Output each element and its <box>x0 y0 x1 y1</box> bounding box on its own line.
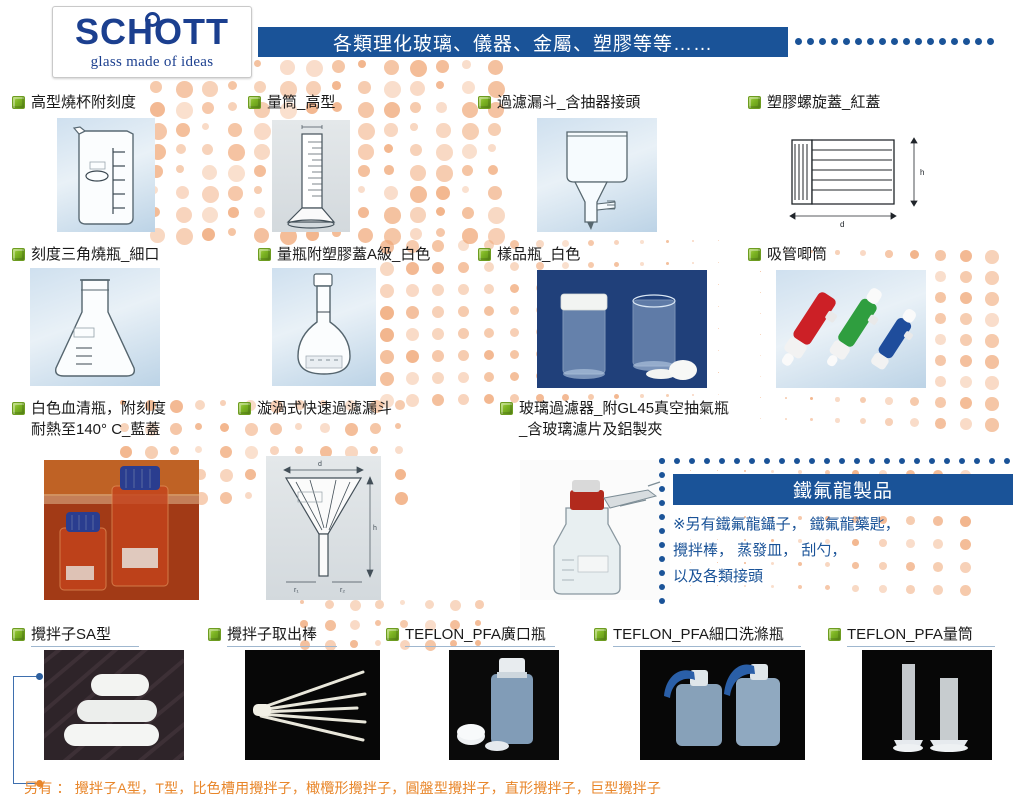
product-label-stir-bar-sa: 攪拌子SA型 <box>12 624 111 645</box>
product-image-graduated-cylinder <box>272 120 350 232</box>
footer-note: 另有 ： 攪拌子A型，T型，比色槽用攪拌子，橄欖形攪拌子，圓盤型攪拌子，直形攪拌… <box>24 778 661 798</box>
pfa-cylinders-art <box>862 650 992 760</box>
green-cube-bullet-icon <box>12 96 25 109</box>
schott-logo: SCHOTT glass made of ideas <box>52 6 252 78</box>
product-label-vortex-funnel: 漩渦式快速過濾漏斗 <box>238 398 392 419</box>
teflon-products-panel: 鐵氟龍製品 ※另有鐵氟龍鑷子， 鐵氟龍藥匙， 攪拌棒， 蒸發皿， 刮勺， 以及各… <box>659 458 1015 610</box>
green-cube-bullet-icon <box>258 248 271 261</box>
logo-ring-icon <box>145 12 160 27</box>
label-underline-pfa-wash-bottle <box>613 646 801 647</box>
product-image-stir-bar-retriever <box>245 650 380 760</box>
green-cube-bullet-icon <box>748 96 761 109</box>
product-image-pfa-wash-bottle <box>640 650 805 760</box>
pfa-wash-bottles-art <box>640 650 805 760</box>
volumetric-flask-art <box>272 268 376 386</box>
product-label-tall-beaker: 高型燒杯附刻度 <box>12 92 136 113</box>
svg-text:d: d <box>318 461 322 468</box>
product-image-filter-funnel <box>537 118 657 232</box>
product-label-glass-filter-gl45: 玻璃過濾器_附GL45真空抽氣瓶 _含玻璃濾片及鋁製夾 <box>500 398 729 440</box>
sample-bottles-art <box>537 270 707 388</box>
pipette-pumps-art <box>776 270 926 388</box>
product-image-serum-bottle <box>44 460 199 600</box>
label-underline-pfa-graduated-cylinder <box>847 646 995 647</box>
product-label-filter-funnel: 過濾漏斗_含抽器接頭 <box>478 92 640 113</box>
teflon-panel-dot-border-left <box>659 458 667 610</box>
product-label-graduated-cylinder: 量筒_高型 <box>248 92 335 113</box>
header-banner: 各類理化玻璃、儀器、金屬、塑膠等等…… <box>258 27 788 57</box>
product-label-stir-bar-retriever: 攪拌子取出棒 <box>208 624 317 645</box>
green-cube-bullet-icon <box>12 628 25 641</box>
vortex-funnel-art: d h r₁ r₂ <box>266 456 381 600</box>
product-image-volumetric-flask <box>272 268 376 386</box>
green-cube-bullet-icon <box>828 628 841 641</box>
product-image-stir-bar-sa <box>44 650 184 760</box>
slide-canvas: SCHOTT glass made of ideas 各類理化玻璃、儀器、金屬、… <box>0 0 1024 802</box>
svg-text:r₁: r₁ <box>294 587 299 594</box>
product-image-glass-filter-gl45 <box>520 460 670 600</box>
product-label-sample-bottle: 樣品瓶_白色 <box>478 244 580 265</box>
product-label-pfa-wash-bottle: TEFLON_PFA細口洗滌瓶 <box>594 624 784 645</box>
product-image-vortex-funnel: d h r₁ r₂ <box>266 456 381 600</box>
retriever-rods-art <box>245 650 380 760</box>
product-image-pfa-graduated-cylinder <box>862 650 992 760</box>
green-cube-bullet-icon <box>478 96 491 109</box>
teflon-panel-body: ※另有鐵氟龍鑷子， 鐵氟龍藥匙， 攪拌棒， 蒸發皿， 刮勺， 以及各類接頭 <box>673 512 1015 590</box>
green-cube-bullet-icon <box>12 248 25 261</box>
label-underline-pfa-wide-mouth-bottle <box>405 646 555 647</box>
product-label-pfa-wide-mouth-bottle: TEFLON_PFA廣口瓶 <box>386 624 546 645</box>
stir-bars-art <box>44 650 184 760</box>
cylinder-drawing-art <box>272 120 350 232</box>
beaker-art <box>57 118 155 232</box>
product-image-pfa-wide-mouth-bottle <box>449 650 559 760</box>
logo-tagline: glass made of ideas <box>91 54 214 71</box>
erlenmeyer-art <box>30 268 160 386</box>
filter-funnel-art <box>537 118 657 232</box>
teflon-panel-dot-border-top <box>659 458 1015 466</box>
product-label-screw-cap: 塑膠螺旋蓋_紅蓋 <box>748 92 880 113</box>
glass-filter-gl45-art <box>520 460 670 600</box>
svg-text:d: d <box>840 220 844 229</box>
product-image-screw-cap: h d <box>766 118 938 232</box>
product-label-volumetric-flask: 量瓶附塑膠蓋A級_白色 <box>258 244 430 265</box>
green-cube-bullet-icon <box>500 402 513 415</box>
product-image-erlenmeyer-flask <box>30 268 160 386</box>
product-image-pipette-pump <box>776 270 926 388</box>
green-cube-bullet-icon <box>594 628 607 641</box>
label-underline-stir-bar-retriever <box>227 646 337 647</box>
green-cube-bullet-icon <box>248 96 261 109</box>
green-cube-bullet-icon <box>12 402 25 415</box>
label-underline-stir-bar-sa <box>31 646 139 647</box>
pfa-wide-mouth-bottle-art <box>449 650 559 760</box>
green-cube-bullet-icon <box>208 628 221 641</box>
green-cube-bullet-icon <box>386 628 399 641</box>
serum-bottles-art <box>44 460 199 600</box>
green-cube-bullet-icon <box>238 402 251 415</box>
svg-text:h: h <box>920 168 924 177</box>
product-image-tall-beaker <box>57 118 155 232</box>
connector-dot-top <box>36 673 43 680</box>
teflon-panel-title: 鐵氟龍製品 <box>673 474 1013 505</box>
svg-text:h: h <box>373 525 377 532</box>
footer-connector-line <box>13 672 43 784</box>
green-cube-bullet-icon <box>478 248 491 261</box>
green-cube-bullet-icon <box>748 248 761 261</box>
product-label-serum-bottle: 白色血清瓶，附刻度 耐熱至140° C_藍蓋 <box>12 398 166 440</box>
product-image-sample-bottle <box>537 270 707 388</box>
product-label-erlenmeyer-flask: 刻度三角燒瓶_細口 <box>12 244 159 265</box>
banner-dot-trail <box>795 35 1010 49</box>
svg-text:r₂: r₂ <box>340 587 345 594</box>
product-label-pfa-graduated-cylinder: TEFLON_PFA量筒 <box>828 624 973 645</box>
product-label-pipette-pump: 吸管唧筒 <box>748 244 827 265</box>
screw-cap-drawing-art: h d <box>766 118 938 232</box>
